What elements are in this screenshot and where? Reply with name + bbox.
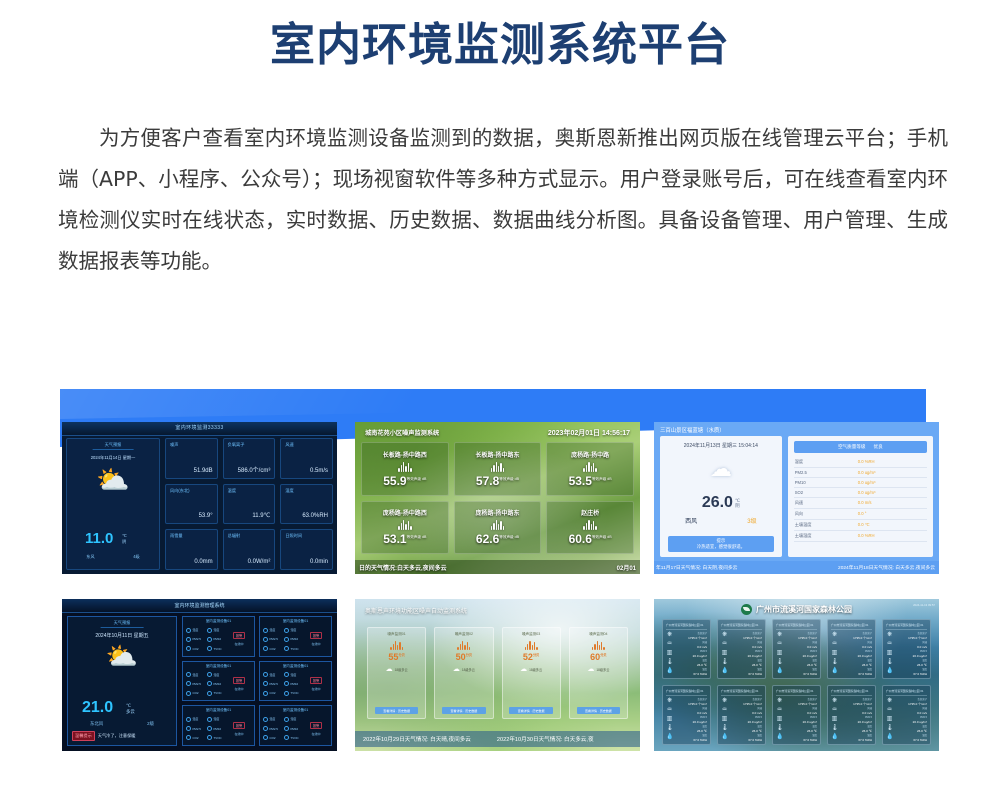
p2-noise-value: 53.1等效声级 dB — [383, 532, 426, 546]
p4-device-metric: 湿度 — [284, 715, 304, 723]
p1-metric-label: 温度 — [228, 488, 236, 494]
screenshot-panel-community-noise: 城南花苑小区噪声监测系统 2023年02月01日 14:56:17 长板路-扬中… — [355, 422, 640, 574]
p6-metric-row: ♒风速0.0 m/s — [831, 640, 872, 649]
p6-metric-row: 💧湿度67.0 %RH — [776, 733, 817, 742]
p4-device-alarm[interactable]: 报警 — [233, 677, 245, 684]
p6-metric-row: ❋负氧离子1735.0 个/cm³ — [666, 631, 707, 640]
metric-dot-icon — [263, 735, 268, 740]
pm25-icon: ▥ — [886, 650, 893, 657]
p6-card-title: 广州市流溪河国家森林公园 01 — [721, 689, 762, 696]
p3-wind-row: 西风 3级 — [660, 516, 782, 525]
p2-noise-card[interactable]: 庞杨路-扬中路西 53.1等效声级 dB — [361, 501, 449, 555]
p6-card-title: 广州市流溪河国家森林公园 01 — [831, 623, 872, 630]
p4-device-metric: PM2.5 — [263, 725, 283, 733]
p5-detail-button[interactable]: 查看详情 · 历史数据 — [442, 707, 486, 714]
p6-metric-value: 20.0 ug/m³ — [895, 720, 927, 724]
p1-temp-value: 11.0 — [85, 530, 113, 547]
p3-metric-row: 土壤温度0.0 ℃ — [794, 520, 927, 531]
p6-metric-value: 26.0 ℃ — [675, 729, 707, 733]
p3-metric-row: PM100.0 ug/m³ — [794, 478, 927, 488]
negative-ion-icon: ❋ — [721, 698, 728, 705]
p1-metric-cell[interactable]: 温度11.9℃ — [223, 484, 276, 525]
p4-device-metric: PM2.5 — [186, 635, 206, 643]
p6-metric-row: 💧湿度67.0 %RH — [721, 733, 762, 742]
cloud-icon: ☁ — [587, 665, 594, 673]
p4-device-status: 在线中 — [311, 642, 320, 646]
cloud-icon: ☁ — [710, 458, 732, 480]
p2-header: 城南花苑小区噪声监测系统 2023年02月01日 14:56:17 — [355, 426, 640, 439]
p6-metric-value: 0.0 m/s — [675, 645, 707, 649]
p5-detail-button[interactable]: 查看详情 · 历史数据 — [577, 707, 621, 714]
pm25-icon: ▥ — [831, 716, 838, 723]
p4-device-status: 在线中 — [234, 732, 243, 736]
p6-metric-row: ❋负氧离子1735.0 个/cm³ — [886, 697, 927, 706]
p4-device-status: 在线中 — [234, 642, 243, 646]
pm25-icon: ▥ — [776, 650, 783, 657]
p4-warning-row: 温馨提示 天气冷了，注意保暖 — [72, 731, 172, 741]
p1-weather-cond: 阴 — [122, 539, 127, 545]
humidity-icon: 💧 — [666, 668, 673, 675]
p6-metric-value: 67.0 %RH — [785, 738, 817, 742]
metric-dot-icon — [207, 672, 212, 677]
metric-dot-icon — [284, 637, 289, 642]
humidity-icon: 💧 — [886, 734, 893, 741]
p6-metric-value: 0.0 m/s — [730, 711, 762, 715]
p2-noise-card[interactable]: 庞杨路-扬中路东 62.6等效声级 dB — [454, 501, 542, 555]
p4-device-alarm[interactable]: 报警 — [310, 677, 322, 684]
p4-title: 室内环境监测管理系统 — [62, 602, 337, 609]
temperature-icon: 🌡 — [666, 725, 673, 732]
p2-noise-value: 55.9等效声级 dB — [383, 474, 426, 488]
metric-dot-icon — [263, 726, 268, 731]
humidity-icon: 💧 — [721, 734, 728, 741]
p5-weather-text: 18级多云 — [596, 667, 609, 672]
p6-card-title: 广州市流溪河国家森林公园 01 — [666, 623, 707, 630]
p6-station-card[interactable]: 广州市流溪河国家森林公园 01❋负氧离子1735.0 个/cm³♒风速0.0 m… — [662, 685, 711, 745]
p6-metric-value: 1735.0 个/cm³ — [730, 636, 762, 640]
p3-metric-key: 风速 — [795, 500, 803, 506]
metric-dot-icon — [186, 717, 191, 722]
p3-ticker-left: 年11月17日天气情况: 白天阴,夜间多云 — [656, 564, 737, 571]
p1-wind-level: 4级 — [133, 554, 140, 560]
metric-dot-icon — [207, 691, 212, 696]
p6-metric-row: ❋负氧离子1735.0 个/cm³ — [776, 631, 817, 640]
p1-metric-cell[interactable]: 湿度63.0%RH — [280, 484, 333, 525]
p3-datetime: 2024年11月13日 星期三 15:04:14 — [660, 442, 782, 449]
p3-tip-text: 冷热适宜，感觉很舒适。 — [668, 544, 774, 550]
p6-metric-row: 💧湿度67.0 %RH — [666, 667, 707, 676]
p6-card-title: 广州市流溪河国家森林公园 01 — [886, 623, 927, 630]
wind-icon: ♒ — [831, 707, 838, 714]
page-title: 室内环境监测系统平台 — [0, 8, 1000, 73]
p6-metric-value: 26.0 ℃ — [730, 663, 762, 667]
p6-card-title: 广州市流溪河国家森林公园 01 — [721, 623, 762, 630]
negative-ion-icon: ❋ — [886, 698, 893, 705]
sun-behind-cloud-icon: ⛅ — [96, 467, 130, 494]
p4-temp-value: 21.0 — [82, 699, 113, 717]
p4-device-metric: CO2 — [263, 734, 283, 742]
metric-dot-icon — [207, 726, 212, 731]
p6-metric-row: ▥PM2.520.0 ug/m³ — [776, 649, 817, 658]
intro-paragraph: 为方便客户查看室内环境监测设备监测到的数据，奥斯恩新推出网页版在线管理云平台；手… — [58, 118, 948, 282]
p3-metric-key: 风向 — [795, 511, 803, 517]
p4-device-title: 室内监测设备01 — [183, 708, 254, 713]
p6-metric-row: ▥PM2.520.0 ug/m³ — [886, 649, 927, 658]
metric-dot-icon — [284, 646, 289, 651]
park-logo-icon — [741, 604, 752, 615]
p4-device-title: 室内监测设备01 — [260, 619, 331, 624]
screenshot-panel-indoor-management: 室内环境监测管理系统 天气预报 2024年10月11日 星期五 ⛅ 21.0 ℃… — [62, 599, 337, 751]
negative-ion-icon: ❋ — [831, 698, 838, 705]
negative-ion-icon: ❋ — [721, 632, 728, 639]
p1-metric-value: 53.9° — [199, 513, 213, 519]
p3-metrics-card: 空气质量等级 优良 湿度0.0 %RH PM2.50.0 ug/m³ PM100… — [788, 436, 933, 557]
p6-station-card[interactable]: 广州市流溪河国家森林公园 01❋负氧离子1735.0 个/cm³♒风速0.0 m… — [772, 685, 821, 745]
p5-detail-button[interactable]: 查看详情 · 历史数据 — [509, 707, 553, 714]
p5-ticker: 2022年10月29日天气情况: 白天晴,夜间多云 2022年10月30日天气情… — [355, 731, 640, 747]
p2-noise-unit: 等效声级 dB — [407, 477, 427, 481]
p1-metric-cell[interactable]: 风向(东北)53.9° — [165, 484, 218, 525]
p6-station-card[interactable]: 广州市流溪河国家森林公园 01❋负氧离子1735.0 个/cm³♒风速0.0 m… — [717, 685, 766, 745]
p4-wind-level: 2级 — [147, 721, 154, 727]
p4-weather-date: 2024年10月11日 星期五 — [68, 632, 176, 639]
p1-metric-value: 0.0min — [310, 559, 328, 565]
negative-ion-icon: ❋ — [666, 698, 673, 705]
p4-device-metric: TVOC — [284, 644, 304, 652]
p4-device-metric: 温度 — [263, 626, 283, 634]
sun-behind-cloud-icon: ⛅ — [106, 643, 138, 669]
metric-dot-icon — [284, 691, 289, 696]
p5-noise-value: 50分贝 — [456, 652, 472, 662]
p3-ticker: 年11月17日天气情况: 白天阴,夜间多云 2024年11月18日天气情况: 白… — [654, 561, 939, 574]
p4-device-alarm[interactable]: 报警 — [233, 632, 245, 639]
metric-dot-icon — [284, 672, 289, 677]
cloud-icon: ☁ — [453, 665, 460, 673]
cloud-icon: ☁ — [520, 665, 527, 673]
p1-metric-label: 日照时间 — [285, 533, 302, 539]
p5-noise-value: 55分贝 — [388, 652, 404, 662]
p4-device-metric: PM10 — [207, 635, 227, 643]
p6-metric-row: 🌡温度26.0 ℃ — [666, 658, 707, 667]
p4-wind-dir: 东北风 — [90, 721, 103, 727]
p4-device-card[interactable]: 室内监测设备01温度湿度PM2.5PM10CO2TVOC报警在线中 — [259, 661, 332, 702]
p2-noise-value: 62.6等效声级 dB — [476, 532, 519, 546]
p5-noise-card[interactable]: 噪声监测04 60分贝 ☁18级多云 查看详情 · 历史数据 — [569, 627, 628, 719]
p4-wind-row: 东北风 2级 — [68, 721, 176, 727]
p6-metric-row: 💧湿度67.0 %RH — [831, 667, 872, 676]
metric-dot-icon — [263, 646, 268, 651]
p6-station-card[interactable]: 广州市流溪河国家森林公园 01❋负氧离子1735.0 个/cm³♒风速0.0 m… — [662, 619, 711, 679]
metric-dot-icon — [207, 681, 212, 686]
p6-metric-row: ❋负氧离子1735.0 个/cm³ — [831, 631, 872, 640]
p4-device-metric: PM10 — [284, 725, 304, 733]
p1-metric-cell[interactable]: 负氧离子586.0个/cm³ — [223, 438, 276, 479]
p4-device-metric: 湿度 — [207, 626, 227, 634]
p6-metric-value: 0.0 m/s — [840, 645, 872, 649]
negative-ion-icon: ❋ — [776, 698, 783, 705]
metric-dot-icon — [263, 672, 268, 677]
p6-metric-value: 1735.0 个/cm³ — [675, 702, 707, 706]
p1-metric-label: 风向(东北) — [170, 488, 190, 494]
waveform-icon — [592, 641, 605, 650]
p3-metric-row: 风向0.0 ° — [794, 509, 927, 520]
waveform-icon — [525, 641, 538, 650]
p2-noise-unit: 等效声级 dB — [592, 535, 612, 539]
p5-noise-card[interactable]: 噪声监测01 55分贝 ☁18级多云 查看详情 · 历史数据 — [367, 627, 426, 719]
wind-icon: ♒ — [721, 641, 728, 648]
p5-title: 奥斯恩声环境功能区噪声自动监测系统 — [365, 606, 467, 615]
p1-metric-label: 雨雪量 — [170, 533, 183, 539]
p4-device-metric: TVOC — [207, 689, 227, 697]
p4-device-card[interactable]: 室内监测设备01温度湿度PM2.5PM10CO2TVOC报警在线中 — [259, 616, 332, 657]
p3-metric-row: PM2.50.0 ug/m³ — [794, 468, 927, 478]
p1-metric-cell[interactable]: 风速0.5m/s — [280, 438, 333, 479]
p4-device-metric: PM10 — [284, 635, 304, 643]
p5-noise-value: 52分贝 — [523, 652, 539, 662]
p6-metric-row: ▥PM2.520.0 ug/m³ — [721, 715, 762, 724]
p5-weather-row: ☁18级多云 — [386, 665, 408, 673]
metric-dot-icon — [186, 681, 191, 686]
p5-detail-button[interactable]: 查看详情 · 历史数据 — [375, 707, 419, 714]
p2-noise-unit: 等效声级 dB — [499, 477, 519, 481]
humidity-icon: 💧 — [831, 734, 838, 741]
p6-metric-value: 26.0 ℃ — [675, 663, 707, 667]
p4-device-card[interactable]: 室内监测设备01温度湿度PM2.5PM10CO2TVOC报警在线中 — [182, 705, 255, 746]
p5-station-name: 噪声监测02 — [455, 632, 473, 637]
p5-weather-text: 18级多云 — [395, 667, 408, 672]
p3-metric-row: SO20.0 ug/m³ — [794, 488, 927, 498]
p1-wind-dir: 东风 — [86, 554, 94, 560]
p5-noise-unit: 分贝 — [533, 653, 539, 657]
p3-metric-key: PM10 — [795, 480, 806, 485]
p6-metric-value: 26.0 ℃ — [840, 663, 872, 667]
p6-metric-row: 🌡温度26.0 ℃ — [886, 724, 927, 733]
p4-device-metric: TVOC — [284, 689, 304, 697]
p3-metric-key: 土壤湿度 — [795, 533, 812, 539]
wind-icon: ♒ — [886, 641, 893, 648]
p6-metric-value: 20.0 ug/m³ — [895, 654, 927, 658]
p4-device-metric: TVOC — [207, 734, 227, 742]
pm25-icon: ▥ — [721, 650, 728, 657]
p6-metric-row: 🌡温度26.0 ℃ — [721, 658, 762, 667]
screenshot-panel-forest-park: 2024-11-13 09:57 广州市流溪河国家森林公园 广州市流溪河国家森林… — [654, 599, 939, 751]
p5-station-name: 噪声监测04 — [589, 632, 607, 637]
p2-station-name: 赵庄桥 — [581, 508, 599, 517]
p3-metric-key: PM2.5 — [795, 470, 807, 475]
temperature-icon: 🌡 — [776, 659, 783, 666]
p6-metric-value: 67.0 %RH — [840, 672, 872, 676]
p3-metric-key: SO2 — [795, 490, 803, 495]
negative-ion-icon: ❋ — [666, 632, 673, 639]
p1-metric-value: 0.0W/m² — [248, 559, 271, 565]
p1-metric-value: 11.9℃ — [252, 512, 270, 519]
p1-metric-cell[interactable]: 雨雪量0.0mm — [165, 529, 218, 570]
p3-metric-row: 风速0.0 m/s — [794, 498, 927, 509]
p2-station-name: 庞杨路-扬中路东 — [475, 508, 519, 517]
pm25-icon: ▥ — [666, 650, 673, 657]
p4-device-card[interactable]: 室内监测设备01温度湿度PM2.5PM10CO2TVOC报警在线中 — [259, 705, 332, 746]
p4-device-metric: CO2 — [263, 644, 283, 652]
temperature-icon: 🌡 — [721, 725, 728, 732]
p6-metric-value: 0.0 m/s — [785, 711, 817, 715]
p6-station-card[interactable]: 广州市流溪河国家森林公园 01❋负氧离子1735.0 个/cm³♒风速0.0 m… — [772, 619, 821, 679]
p6-station-card[interactable]: 广州市流溪河国家森林公园 01❋负氧离子1735.0 个/cm³♒风速0.0 m… — [882, 685, 931, 745]
p4-device-metric: 温度 — [186, 715, 206, 723]
p4-device-metric: PM2.5 — [186, 680, 206, 688]
p2-noise-card[interactable]: 赵庄桥 60.6等效声级 dB — [546, 501, 634, 555]
p6-card-title: 广州市流溪河国家森林公园 01 — [776, 689, 817, 696]
p3-metric-value: 0.0 ug/m³ — [858, 470, 926, 475]
p6-metric-value: 0.0 m/s — [895, 645, 927, 649]
p5-noise-card[interactable]: 噪声监测03 52分贝 ☁18级多云 查看详情 · 历史数据 — [502, 627, 561, 719]
p4-temp-unit-block: ℃ 多云 — [126, 703, 135, 715]
p2-noise-card[interactable]: 长板路-扬中路东 57.8等效声级 dB — [454, 442, 542, 496]
p4-device-metric: PM10 — [284, 680, 304, 688]
p4-device-alarm[interactable]: 报警 — [310, 722, 322, 729]
p6-metric-value: 1735.0 个/cm³ — [895, 702, 927, 706]
p3-metric-value: 0.0 ° — [858, 511, 926, 517]
p6-metric-value: 26.0 ℃ — [785, 729, 817, 733]
p6-station-card[interactable]: 广州市流溪河国家森林公园 01❋负氧离子1735.0 个/cm³♒风速0.0 m… — [827, 685, 876, 745]
metric-dot-icon — [207, 646, 212, 651]
p3-wind-dir: 西风 — [685, 516, 697, 525]
pm25-icon: ▥ — [721, 716, 728, 723]
p6-metric-value: 1735.0 个/cm³ — [675, 636, 707, 640]
p6-metric-row: ▥PM2.520.0 ug/m³ — [721, 649, 762, 658]
p4-warning-badge: 温馨提示 — [72, 731, 95, 741]
p6-metric-row: 🌡温度26.0 ℃ — [776, 658, 817, 667]
temperature-icon: 🌡 — [721, 659, 728, 666]
p4-device-metric: 温度 — [186, 671, 206, 679]
pm25-icon: ▥ — [831, 650, 838, 657]
p1-weather-card: 天气预报 2024年11月14日 星期一 ⛅ 11.0 ℃ 阴 东风 4级 — [66, 438, 160, 570]
p4-device-alarm[interactable]: 报警 — [310, 632, 322, 639]
waveform-icon — [491, 519, 504, 530]
p5-weather-row: ☁18级多云 — [587, 665, 609, 673]
waveform-icon — [491, 461, 504, 472]
p2-noise-card[interactable]: 庞杨路-扬中路 53.5等效声级 dB — [546, 442, 634, 496]
metric-dot-icon — [186, 726, 191, 731]
metric-dot-icon — [186, 628, 191, 633]
temperature-icon: 🌡 — [666, 659, 673, 666]
p6-metric-row: ♒风速0.0 m/s — [721, 640, 762, 649]
metric-dot-icon — [207, 717, 212, 722]
p3-metric-value: 0.0 ug/m³ — [858, 490, 926, 495]
p4-device-card[interactable]: 室内监测设备01温度湿度PM2.5PM10CO2TVOC报警在线中 — [182, 661, 255, 702]
p6-metric-value: 26.0 ℃ — [730, 729, 762, 733]
p4-device-metric: PM2.5 — [186, 725, 206, 733]
p5-ticker-right: 2022年10月30日天气情况: 白天多云,夜 — [497, 735, 594, 743]
p4-device-status: 在线中 — [311, 687, 320, 691]
p4-device-alarm[interactable]: 报警 — [233, 722, 245, 729]
p2-datetime: 2023年02月01日 14:56:17 — [548, 428, 630, 438]
p6-metric-value: 1735.0 个/cm³ — [785, 636, 817, 640]
waveform-icon — [583, 461, 596, 472]
metric-dot-icon — [284, 717, 289, 722]
p3-metric-row: 土壤湿度0.0 %RH — [794, 531, 927, 542]
p4-device-card[interactable]: 室内监测设备01温度湿度PM2.5PM10CO2TVOC报警在线中 — [182, 616, 255, 657]
pm25-icon: ▥ — [886, 716, 893, 723]
metric-dot-icon — [284, 726, 289, 731]
p1-metric-grid: 噪声51.9dB 负氧离子586.0个/cm³ 风速0.5m/s 风向(东北)5… — [165, 438, 333, 570]
p6-metric-row: ♒风速0.0 m/s — [886, 706, 927, 715]
p6-metric-row: ♒风速0.0 m/s — [721, 706, 762, 715]
p3-cond: 阴 — [735, 503, 739, 508]
p6-station-card[interactable]: 广州市流溪河国家森林公园 01❋负氧离子1735.0 个/cm³♒风速0.0 m… — [717, 619, 766, 679]
negative-ion-icon: ❋ — [831, 632, 838, 639]
p3-metric-row: 湿度0.0 %RH — [794, 457, 927, 468]
p3-temp-value: 26.0 — [702, 494, 733, 511]
p5-noise-card[interactable]: 噪声监测02 50分贝 ☁18级多云 查看详情 · 历史数据 — [434, 627, 493, 719]
wind-icon: ♒ — [886, 707, 893, 714]
p5-weather-row: ☁18级多云 — [520, 665, 542, 673]
metric-dot-icon — [186, 672, 191, 677]
p4-device-metric: PM2.5 — [263, 680, 283, 688]
p3-weather-card: 2024年11月13日 星期三 15:04:14 ☁ 26.0℃阴 西风 3级 … — [660, 436, 782, 557]
metric-dot-icon — [284, 681, 289, 686]
p6-metric-row: ♒风速0.0 m/s — [776, 706, 817, 715]
p4-device-metric: 湿度 — [207, 671, 227, 679]
p6-station-card[interactable]: 广州市流溪河国家森林公园 01❋负氧离子1735.0 个/cm³♒风速0.0 m… — [882, 619, 931, 679]
humidity-icon: 💧 — [831, 668, 838, 675]
p1-metric-label: 负氧离子 — [228, 442, 245, 448]
temperature-icon: 🌡 — [776, 725, 783, 732]
p2-noise-card[interactable]: 长板路-扬中路西 55.9等效声级 dB — [361, 442, 449, 496]
p6-metric-row: ▥PM2.520.0 ug/m³ — [831, 715, 872, 724]
p6-metric-value: 0.0 m/s — [840, 711, 872, 715]
p5-weather-text: 18级多云 — [529, 667, 542, 672]
p6-metric-row: ❋负氧离子1735.0 个/cm³ — [666, 697, 707, 706]
p5-weather-text: 18级多云 — [462, 667, 475, 672]
p6-metric-row: ♒风速0.0 m/s — [831, 706, 872, 715]
screenshot-panel-indoor-dashboard: 室内环境监测33333 天气预报 2024年11月14日 星期一 ⛅ 11.0 … — [62, 422, 337, 574]
p6-station-card[interactable]: 广州市流溪河国家森林公园 01❋负氧离子1735.0 个/cm³♒风速0.0 m… — [827, 619, 876, 679]
p6-metric-value: 1735.0 个/cm³ — [895, 636, 927, 640]
p1-metric-cell[interactable]: 日照时间0.0min — [280, 529, 333, 570]
p4-device-metric: 湿度 — [284, 626, 304, 634]
metric-dot-icon — [284, 735, 289, 740]
p6-metric-row: ▥PM2.520.0 ug/m³ — [886, 715, 927, 724]
p1-temp-unit-block: ℃ 阴 — [122, 533, 127, 545]
metric-dot-icon — [263, 691, 268, 696]
p6-metric-row: 💧湿度67.0 %RH — [666, 733, 707, 742]
p6-metric-row: ▥PM2.520.0 ug/m³ — [831, 649, 872, 658]
p2-ticker: 日的天气情况:白天多云,夜间多云 02月01 — [355, 560, 640, 574]
p6-metric-row: 💧湿度67.0 %RH — [721, 667, 762, 676]
p4-device-metric: 湿度 — [284, 671, 304, 679]
p6-metric-row: ▥PM2.520.0 ug/m³ — [666, 649, 707, 658]
wind-icon: ♒ — [776, 641, 783, 648]
p6-metric-row: ♒风速0.0 m/s — [776, 640, 817, 649]
p4-device-metric: 湿度 — [207, 715, 227, 723]
p2-noise-unit: 等效声级 dB — [592, 477, 612, 481]
p1-titlebar: 室内环境监测33333 — [62, 422, 337, 436]
metric-dot-icon — [186, 646, 191, 651]
p6-metric-value: 67.0 %RH — [785, 672, 817, 676]
metric-dot-icon — [284, 628, 289, 633]
wind-icon: ♒ — [666, 641, 673, 648]
p1-metric-cell[interactable]: 噪声51.9dB — [165, 438, 218, 479]
p3-ticker-right: 2024年11月18日天气情况: 白天多云,夜间多云 — [838, 564, 935, 571]
p5-station-name: 噪声监测03 — [522, 632, 540, 637]
humidity-icon: 💧 — [666, 734, 673, 741]
waveform-icon — [398, 519, 411, 530]
p6-metric-row: ❋负氧离子1735.0 个/cm³ — [831, 697, 872, 706]
negative-ion-icon: ❋ — [776, 632, 783, 639]
p5-card-grid: 噪声监测01 55分贝 ☁18级多云 查看详情 · 历史数据 噪声监测02 50… — [367, 627, 628, 719]
p4-device-status: 在线中 — [234, 687, 243, 691]
p1-metric-cell[interactable]: 总辐射0.0W/m² — [223, 529, 276, 570]
